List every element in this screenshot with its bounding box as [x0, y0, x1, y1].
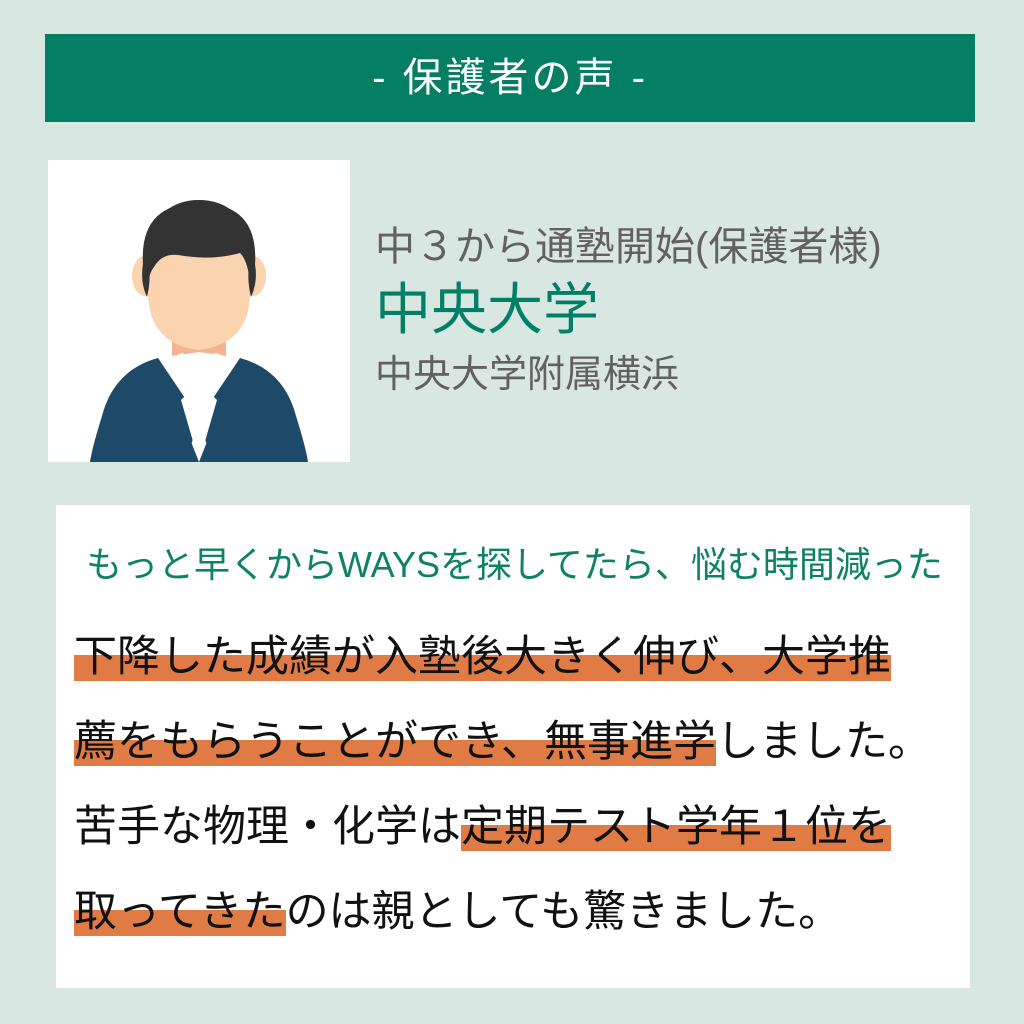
school-name: 中央大学附属横浜 — [375, 352, 975, 400]
plain-text: 苦手な物理・化学は — [74, 803, 461, 851]
profile-row: 中３から通塾開始(保護者様) 中央大学 中央大学附属横浜 — [48, 160, 978, 462]
enrollment-label: 中３から通塾開始(保護者様) — [375, 222, 975, 273]
testimonial-card: もっと早くからWAYSを探してたら、悩む時間減った 下降した成績が入塾後大きく伸… — [56, 505, 970, 988]
highlighted-text: 取ってきた — [74, 888, 286, 936]
testimonial-line: 取ってきたのは親としても驚きました。 — [74, 870, 960, 955]
plain-text: しました。 — [716, 718, 931, 766]
profile-details: 中３から通塾開始(保護者様) 中央大学 中央大学附属横浜 — [375, 222, 975, 400]
plain-text: のは親としても驚きました。 — [286, 888, 842, 936]
testimonial-card-page: - 保護者の声 - — [0, 0, 1024, 1024]
highlighted-text: 薦をもらうことができ、無事進学 — [74, 718, 716, 766]
portrait-illustration-icon — [48, 160, 350, 462]
testimonial-line: 薦をもらうことができ、無事進学しました。 — [74, 700, 960, 785]
highlighted-text: 定期テスト学年１位を — [461, 803, 891, 851]
highlighted-text: 下降した成績が入塾後大きく伸び、大学推 — [74, 633, 891, 681]
testimonial-body: 下降した成績が入塾後大きく伸び、大学推 薦をもらうことができ、無事進学しました。… — [74, 615, 960, 955]
student-photo — [48, 160, 350, 462]
testimonial-line: 苦手な物理・化学は定期テスト学年１位を — [74, 785, 960, 870]
university-name: 中央大学 — [375, 275, 975, 346]
banner-title: - 保護者の声 - — [372, 58, 648, 98]
testimonial-headline: もっと早くからWAYSを探してたら、悩む時間減った — [86, 543, 943, 586]
section-header-banner: - 保護者の声 - — [45, 34, 975, 122]
testimonial-line: 下降した成績が入塾後大きく伸び、大学推 — [74, 615, 960, 700]
